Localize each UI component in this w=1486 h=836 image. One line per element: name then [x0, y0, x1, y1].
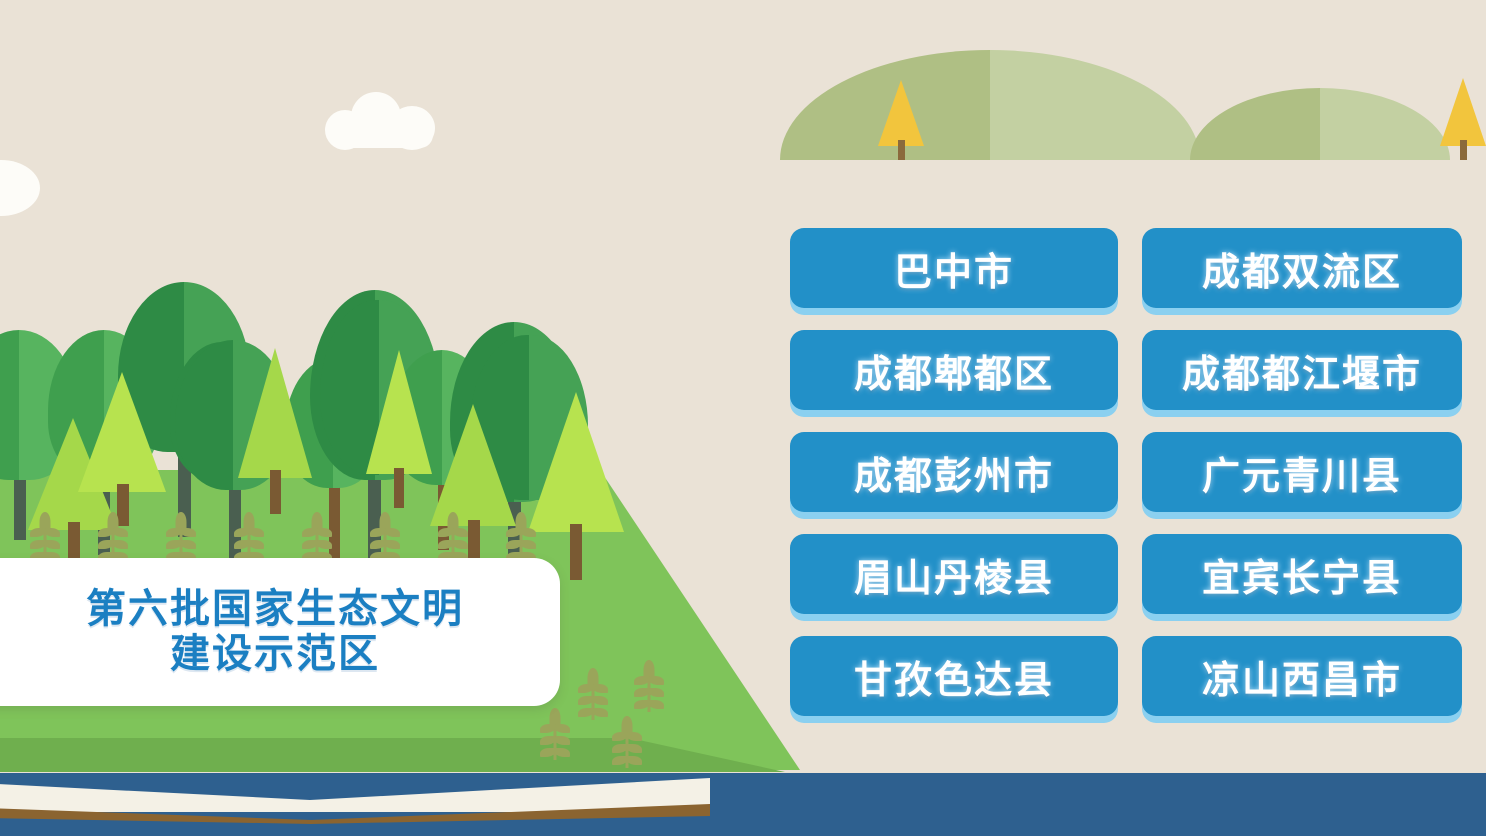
region-label: 巴中市	[894, 241, 1014, 296]
region-pill[interactable]: 巴中市	[790, 228, 1118, 308]
region-label: 成都都江堰市	[1182, 343, 1422, 398]
region-label: 成都双流区	[1202, 241, 1402, 296]
title-line-1: 第六批国家生态文明	[86, 587, 464, 632]
book-page-left	[0, 778, 310, 812]
region-label: 成都彭州市	[854, 445, 1054, 500]
conifer-tree-icon	[78, 372, 166, 522]
infographic-slide: 第六批国家生态文明 建设示范区 巴中市 成都双流区 成都郫都区 成都都江堰市 成…	[0, 0, 1486, 836]
open-book-graphic	[0, 752, 740, 836]
region-pill[interactable]: 成都郫都区	[790, 330, 1118, 410]
conifer-tree-icon	[366, 350, 432, 500]
wheat-icon	[370, 512, 400, 564]
wheat-icon	[98, 512, 128, 564]
conifer-tree-icon	[1440, 78, 1486, 160]
cloud-icon-edge	[0, 160, 40, 216]
region-pill[interactable]: 甘孜色达县	[790, 636, 1118, 716]
conifer-tree-icon	[528, 392, 624, 572]
hill-range	[760, 20, 1486, 160]
title-line-2: 建设示范区	[86, 632, 464, 677]
wheat-icon	[634, 660, 664, 712]
region-pill[interactable]: 成都彭州市	[790, 432, 1118, 512]
region-pill[interactable]: 宜宾长宁县	[1142, 534, 1462, 614]
region-label: 成都郫都区	[854, 343, 1054, 398]
region-pill[interactable]: 成都双流区	[1142, 228, 1462, 308]
region-label: 宜宾长宁县	[1202, 547, 1402, 602]
region-pill[interactable]: 广元青川县	[1142, 432, 1462, 512]
region-label: 甘孜色达县	[854, 649, 1054, 704]
cloud-icon	[325, 92, 437, 150]
region-pill[interactable]: 眉山丹棱县	[790, 534, 1118, 614]
channel-watermark	[14, 32, 224, 66]
page-title: 第六批国家生态文明 建设示范区	[56, 587, 464, 677]
wheat-icon	[506, 512, 536, 564]
wheat-icon	[166, 512, 196, 564]
hill-small	[1190, 88, 1450, 160]
wheat-icon	[438, 512, 468, 564]
region-label: 广元青川县	[1202, 445, 1402, 500]
conifer-tree-icon	[238, 348, 312, 503]
wheat-icon	[302, 512, 332, 564]
region-pill[interactable]: 凉山西昌市	[1142, 636, 1462, 716]
title-card: 第六批国家生态文明 建设示范区	[0, 558, 560, 706]
wheat-icon	[234, 512, 264, 564]
wheat-icon	[578, 668, 608, 720]
wheat-icon	[30, 512, 60, 564]
hill-large	[780, 50, 1200, 160]
region-label: 凉山西昌市	[1202, 649, 1402, 704]
region-pill[interactable]: 成都都江堰市	[1142, 330, 1462, 410]
conifer-tree-icon	[878, 80, 924, 160]
region-label: 眉山丹棱县	[854, 547, 1054, 602]
region-list: 巴中市 成都双流区 成都郫都区 成都都江堰市 成都彭州市 广元青川县 眉山丹棱县…	[790, 228, 1462, 716]
